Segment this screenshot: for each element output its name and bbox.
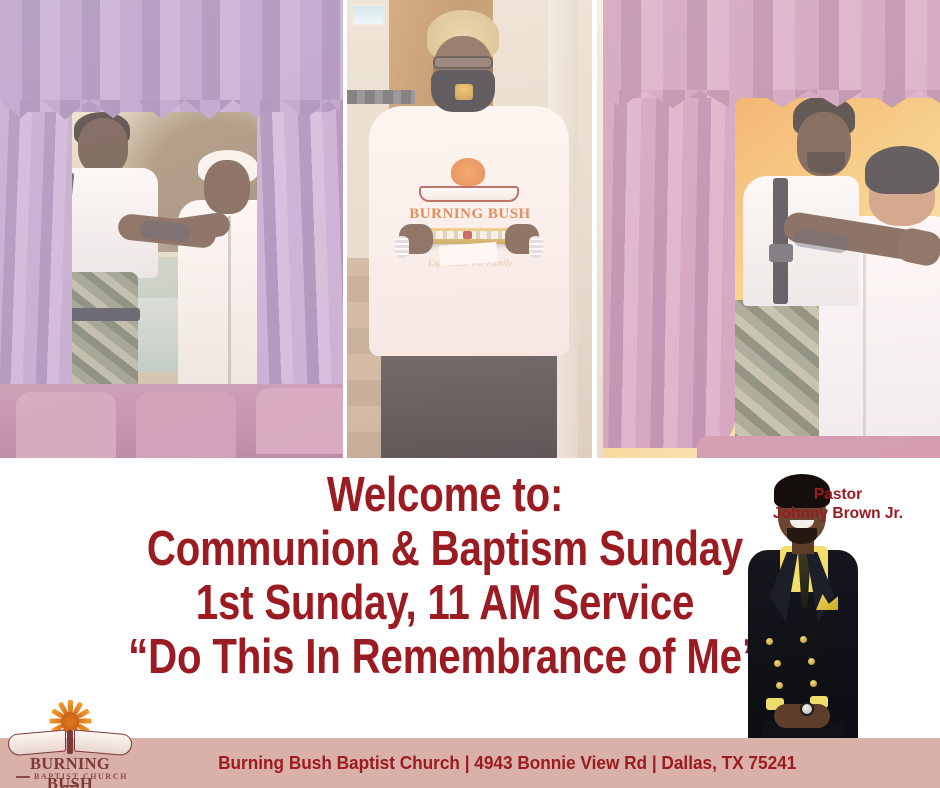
wall-baseboard	[347, 90, 415, 104]
communion-juice-cup	[463, 231, 472, 239]
photo-collage-strip: BURNING BUSH Experience The Family	[0, 0, 940, 458]
church-announcement-flyer: BURNING BUSH Experience The Family	[0, 0, 940, 788]
minister-wader-strap	[773, 178, 788, 304]
suit-button	[766, 638, 773, 645]
candidate-robe-seam	[228, 216, 231, 384]
tshirt-logo-text: BURNING BUSH	[409, 206, 531, 223]
sanctuary-pew	[697, 436, 940, 458]
book-spine	[67, 730, 73, 754]
pink-curtain-valance	[597, 0, 940, 98]
pastor-name-label: Pastor Johnny Brown Jr.	[746, 486, 930, 524]
hallway-window	[351, 4, 385, 26]
communion-tray-photo: BURNING BUSH Experience The Family	[347, 0, 592, 458]
suit-button	[774, 660, 781, 667]
book-page-left	[8, 729, 66, 756]
book-page-right	[74, 729, 132, 756]
footer-bar: Burning Bush Baptist Church | 4943 Bonni…	[0, 738, 940, 788]
suit-button	[776, 682, 783, 689]
suit-button	[800, 636, 807, 643]
open-book-icon	[8, 732, 132, 756]
eyeglasses-icon	[433, 56, 493, 69]
wristwatch-icon	[800, 702, 814, 716]
baptism-pool-photo	[0, 0, 343, 458]
suit-button	[810, 680, 817, 687]
face-mask-logo	[455, 84, 473, 100]
logo-subtitle-text: BAPTIST CHURCH	[34, 772, 128, 781]
member-shirt-fold	[863, 240, 866, 440]
announcement-body: Welcome to: Communion & Baptism Sunday 1…	[0, 458, 940, 738]
logo-dash-right	[63, 785, 77, 786]
suit-button	[808, 658, 815, 665]
tshirt-book-icon	[419, 186, 519, 202]
prayer-embrace-photo	[597, 0, 940, 458]
logo-dash-left	[16, 776, 30, 777]
minister-strap-buckle	[769, 244, 793, 262]
tshirt-bush-icon	[451, 158, 485, 186]
bush-icon	[61, 712, 79, 730]
logo-church-subtitle: BAPTIST CHURCH	[6, 772, 134, 788]
wall-edge	[597, 0, 603, 458]
pastor-beard	[787, 528, 817, 544]
headline-line-service-time: 1st Sunday, 11 AM Service	[80, 578, 810, 630]
minister-beard	[807, 152, 845, 174]
member-right-bracelet	[529, 236, 543, 258]
footer-contact-line: Burning Bush Baptist Church | 4943 Bonni…	[33, 738, 907, 788]
sanctuary-pews	[0, 384, 343, 458]
minister-head	[78, 118, 128, 174]
communion-napkin	[438, 242, 497, 266]
member-skirt	[381, 352, 557, 458]
pastor-title: Pastor	[746, 486, 930, 505]
member-left-bracelet	[395, 236, 409, 258]
member-skull-cap	[865, 146, 939, 194]
headline-line-scripture-quote: “Do This In Remembrance of Me”	[80, 632, 810, 684]
pastor-name: Johnny Brown Jr.	[746, 505, 930, 524]
headline-line-event: Communion & Baptism Sunday	[80, 524, 810, 576]
minister-waders	[735, 300, 827, 458]
headline-line-welcome: Welcome to:	[80, 470, 810, 522]
purple-curtain-valance	[0, 0, 343, 112]
church-logo: BURNING BUSH BAPTIST CHURCH	[6, 706, 134, 778]
candidate-head	[204, 160, 250, 214]
